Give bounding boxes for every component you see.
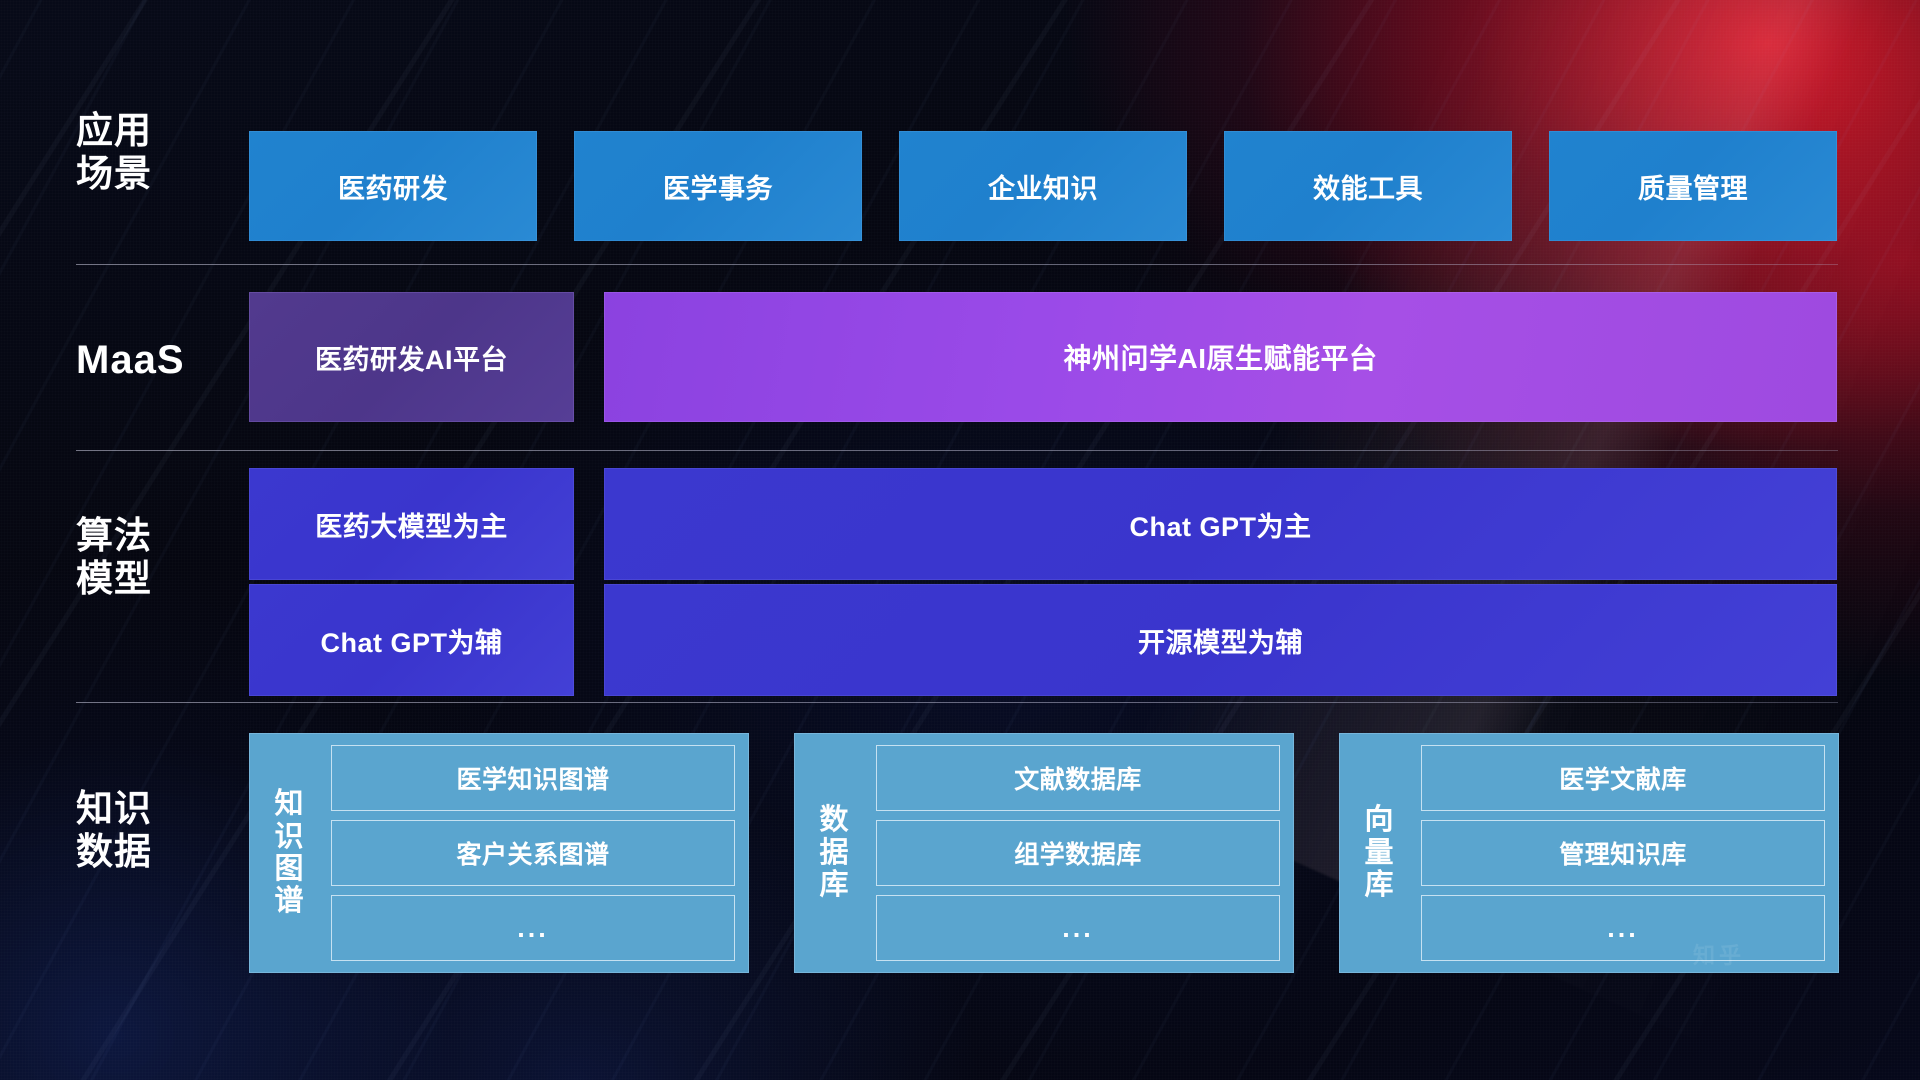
- app-box-quality-management[interactable]: 质量管理: [1549, 131, 1837, 241]
- knowledge-group-vector-title-char1: 向: [1364, 804, 1393, 836]
- app-box-enterprise-knowledge[interactable]: 企业知识: [899, 131, 1187, 241]
- knowledge-item-customer-graph[interactable]: 客户关系图谱: [331, 820, 735, 886]
- row-label-knowledge-line2: 数据: [76, 831, 246, 874]
- knowledge-item-medical-literature[interactable]: 医学文献库: [1421, 745, 1825, 811]
- knowledge-group-vector-title: 向 量 库: [1349, 745, 1409, 961]
- knowledge-item-database-more[interactable]: ...: [876, 895, 1280, 961]
- algo-box-medicine-llm-primary-label: 医药大模型为主: [315, 505, 508, 544]
- app-box-efficiency-tools-label: 效能工具: [1313, 167, 1423, 206]
- watermark: 知乎: [1693, 938, 1745, 970]
- app-box-medical-affairs[interactable]: 医学事务: [574, 131, 862, 241]
- knowledge-item-management-knowledge[interactable]: 管理知识库: [1421, 820, 1825, 886]
- row-label-algorithm-line2: 模型: [76, 558, 246, 601]
- row-label-algorithm-line1: 算法: [76, 515, 246, 558]
- divider-application-maas: [76, 264, 1838, 265]
- maas-box-medicine-ai-platform[interactable]: 医药研发AI平台: [249, 292, 574, 422]
- knowledge-group-database-title: 数 据 库: [804, 745, 864, 961]
- algo-box-opensource-secondary[interactable]: 开源模型为辅: [604, 584, 1837, 696]
- knowledge-group-database-title-char1: 数: [819, 804, 848, 836]
- divider-maas-algorithm: [76, 450, 1838, 451]
- row-label-maas-line1: MaaS: [76, 337, 246, 383]
- knowledge-group-graph-title: 知 识 图 谱: [259, 745, 319, 961]
- algo-box-chatgpt-secondary-label: Chat GPT为辅: [320, 621, 502, 660]
- algo-box-chatgpt-secondary[interactable]: Chat GPT为辅: [249, 584, 574, 696]
- knowledge-item-medical-graph[interactable]: 医学知识图谱: [331, 745, 735, 811]
- knowledge-group-database-title-char3: 库: [819, 869, 848, 901]
- app-box-medicine-rd-label: 医药研发: [338, 167, 448, 206]
- knowledge-group-graph-title-char3: 图: [274, 853, 303, 885]
- slide-canvas: 应用 场景 医药研发 医学事务 企业知识 效能工具 质量管理 MaaS 医药研发…: [0, 0, 1920, 1080]
- app-box-enterprise-knowledge-label: 企业知识: [988, 167, 1098, 206]
- knowledge-item-literature-db[interactable]: 文献数据库: [876, 745, 1280, 811]
- maas-box-medicine-ai-platform-label: 医药研发AI平台: [315, 338, 508, 377]
- row-label-knowledge: 知识 数据: [76, 788, 246, 874]
- maas-box-shenzhou-platform-label: 神州问学AI原生赋能平台: [1063, 337, 1377, 377]
- knowledge-group-vector-title-char3: 库: [1364, 869, 1393, 901]
- maas-box-shenzhou-platform[interactable]: 神州问学AI原生赋能平台: [604, 292, 1837, 422]
- algo-box-chatgpt-primary-label: Chat GPT为主: [1129, 505, 1311, 544]
- row-label-application-line2: 场景: [76, 153, 246, 196]
- knowledge-group-vector[interactable]: 向 量 库 医学文献库 管理知识库 ...: [1339, 733, 1839, 973]
- knowledge-group-graph-title-char2: 识: [274, 821, 303, 853]
- row-label-algorithm: 算法 模型: [76, 515, 246, 601]
- knowledge-group-database-title-char2: 据: [819, 837, 848, 869]
- knowledge-group-graph[interactable]: 知 识 图 谱 医学知识图谱 客户关系图谱 ...: [249, 733, 749, 973]
- knowledge-group-vector-title-char2: 量: [1364, 837, 1393, 869]
- knowledge-item-vector-more[interactable]: ...: [1421, 895, 1825, 961]
- knowledge-group-database[interactable]: 数 据 库 文献数据库 组学数据库 ...: [794, 733, 1294, 973]
- divider-algorithm-knowledge: [76, 702, 1838, 703]
- knowledge-group-database-items: 文献数据库 组学数据库 ...: [876, 745, 1280, 961]
- architecture-diagram: 应用 场景 医药研发 医学事务 企业知识 效能工具 质量管理 MaaS 医药研发…: [0, 0, 1920, 1080]
- knowledge-group-graph-items: 医学知识图谱 客户关系图谱 ...: [331, 745, 735, 961]
- knowledge-group-vector-items: 医学文献库 管理知识库 ...: [1421, 745, 1825, 961]
- app-box-medicine-rd[interactable]: 医药研发: [249, 131, 537, 241]
- row-label-application-line1: 应用: [76, 110, 246, 153]
- algo-box-chatgpt-primary[interactable]: Chat GPT为主: [604, 468, 1837, 580]
- knowledge-item-graph-more[interactable]: ...: [331, 895, 735, 961]
- app-box-quality-management-label: 质量管理: [1638, 167, 1748, 206]
- app-box-medical-affairs-label: 医学事务: [663, 167, 773, 206]
- app-box-efficiency-tools[interactable]: 效能工具: [1224, 131, 1512, 241]
- knowledge-group-graph-title-char1: 知: [274, 788, 303, 820]
- knowledge-group-graph-title-char4: 谱: [274, 885, 303, 917]
- row-label-maas: MaaS: [76, 337, 246, 383]
- row-label-knowledge-line1: 知识: [76, 788, 246, 831]
- algo-box-opensource-secondary-label: 开源模型为辅: [1138, 621, 1303, 660]
- knowledge-item-omics-db[interactable]: 组学数据库: [876, 820, 1280, 886]
- algo-box-medicine-llm-primary[interactable]: 医药大模型为主: [249, 468, 574, 580]
- row-label-application: 应用 场景: [76, 110, 246, 196]
